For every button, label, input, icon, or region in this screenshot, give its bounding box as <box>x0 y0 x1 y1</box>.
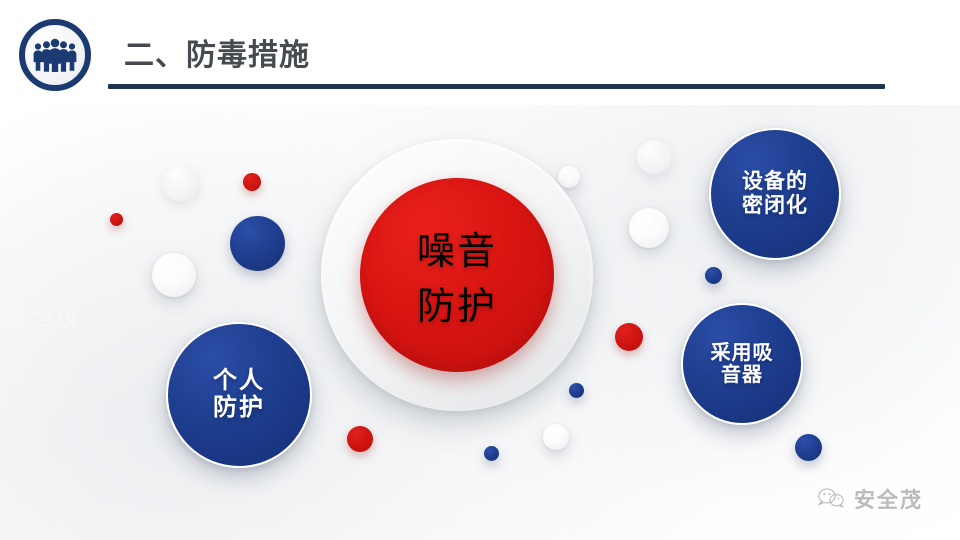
node-personal-label-line2: 防护 <box>213 395 265 422</box>
node-equipment-sealing[interactable]: 设备的 密闭化 <box>709 128 841 260</box>
wechat-chat-icon <box>816 485 846 514</box>
center-node-label: 噪音 防护 <box>417 220 497 330</box>
node-personal-label: 个人 防护 <box>213 368 265 422</box>
slide-canvas: 二、防毒措施 噪音 防护 设备的 密闭化 采用吸 音器 个人 <box>0 0 960 540</box>
node-absorber-label-line1: 采用吸 <box>711 342 774 364</box>
decor-dot-blue <box>484 446 499 461</box>
decor-dot-blue <box>230 216 285 271</box>
decor-bubble-white <box>629 208 669 248</box>
decor-dot-blue <box>795 434 822 461</box>
decor-dot-red <box>347 426 373 452</box>
center-node-label-line2: 防护 <box>417 275 497 330</box>
node-personal-label-line1: 个人 <box>213 368 265 395</box>
channel-watermark-label: 安全茂 <box>854 484 923 514</box>
channel-watermark: 安全茂 <box>816 484 923 514</box>
people-group-icon <box>19 19 91 91</box>
node-absorber-label-line2: 音器 <box>711 364 774 386</box>
decor-dot-red <box>243 173 261 191</box>
page-title: 二、防毒措施 <box>124 30 310 74</box>
decor-bubble-white <box>543 424 569 450</box>
center-node-noise-protection[interactable]: 噪音 防护 <box>360 178 554 372</box>
decor-bubble-white <box>558 166 580 188</box>
node-absorber-label: 采用吸 音器 <box>711 342 774 387</box>
center-node-label-line1: 噪音 <box>417 220 497 275</box>
decor-dot-blue <box>569 383 584 398</box>
decor-dot-red <box>615 323 643 351</box>
node-personal-protection[interactable]: 个人 防护 <box>166 322 312 468</box>
node-equipment-label-line2: 密闭化 <box>742 194 808 218</box>
decor-dot-blue <box>705 267 722 284</box>
background-watermark: 安全茂 <box>8 300 80 332</box>
node-equipment-label-line1: 设备的 <box>742 170 808 194</box>
decor-bubble-white <box>152 253 196 297</box>
decor-dot-red <box>110 213 123 226</box>
node-equipment-label: 设备的 密闭化 <box>742 170 808 217</box>
decor-bubble-white <box>163 165 199 201</box>
decor-bubble-white <box>637 140 671 174</box>
node-sound-absorber[interactable]: 采用吸 音器 <box>681 303 803 425</box>
header-divider <box>108 84 885 89</box>
